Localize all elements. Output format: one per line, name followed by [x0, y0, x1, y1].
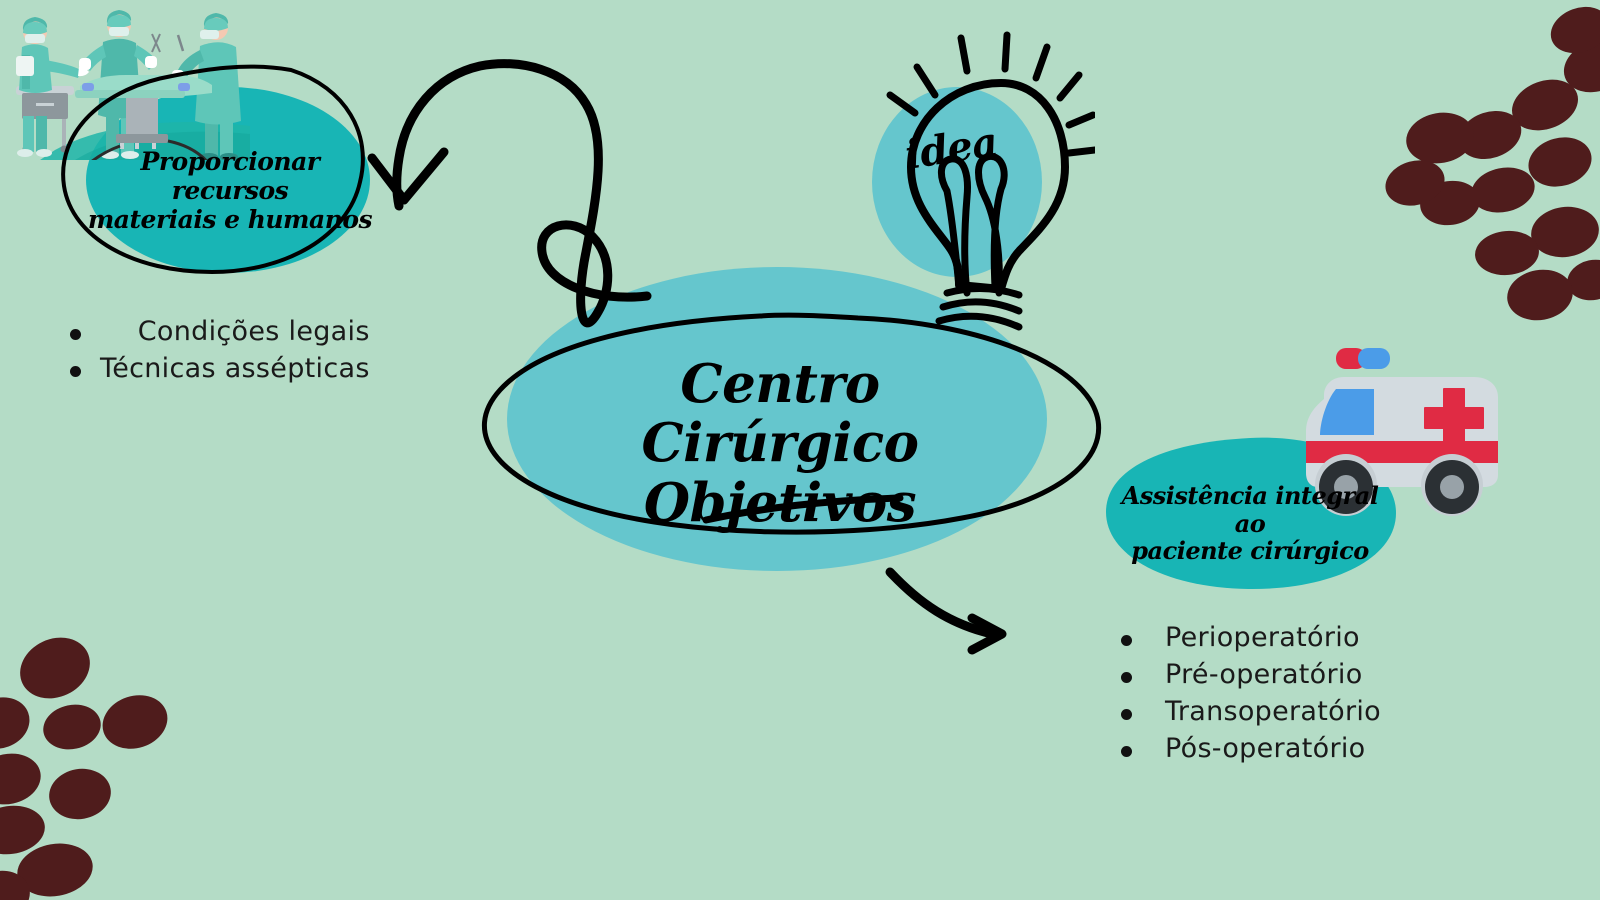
list-item: Técnicas assépticas [60, 353, 370, 384]
infographic-slide: idea [0, 0, 1600, 900]
list-item: Pré-operatório [1105, 659, 1381, 690]
right-bubble-line2: paciente cirúrgico [1131, 536, 1368, 565]
right-bubble-line1: Assistência integral ao [1122, 481, 1379, 538]
curly-arrow-down-left [397, 64, 647, 323]
left-bubble-line2: materiais e humanos [88, 205, 372, 234]
left-bubble-line1: Proporcionar recursos [141, 147, 320, 205]
page-title: Centro Cirúrgico Objetivos [540, 355, 1020, 533]
center-title-line2: Objetivos [540, 474, 1020, 533]
list-item: Perioperatório [1105, 622, 1381, 653]
right-bubble-label: Assistência integral ao paciente cirúrgi… [1105, 482, 1395, 565]
list-item: Transoperatório [1105, 696, 1381, 727]
left-branch-bullet-list: Condições legais Técnicas assépticas [60, 316, 370, 390]
right-branch-bullet-list: Perioperatório Pré-operatório Transopera… [1105, 622, 1381, 770]
curly-arrow-head-left [372, 152, 444, 200]
list-item: Pós-operatório [1105, 733, 1381, 764]
left-bubble-label: Proporcionar recursos materiais e humano… [85, 148, 375, 234]
list-item: Condições legais [60, 316, 370, 347]
center-title-line1: Centro Cirúrgico [641, 353, 918, 474]
